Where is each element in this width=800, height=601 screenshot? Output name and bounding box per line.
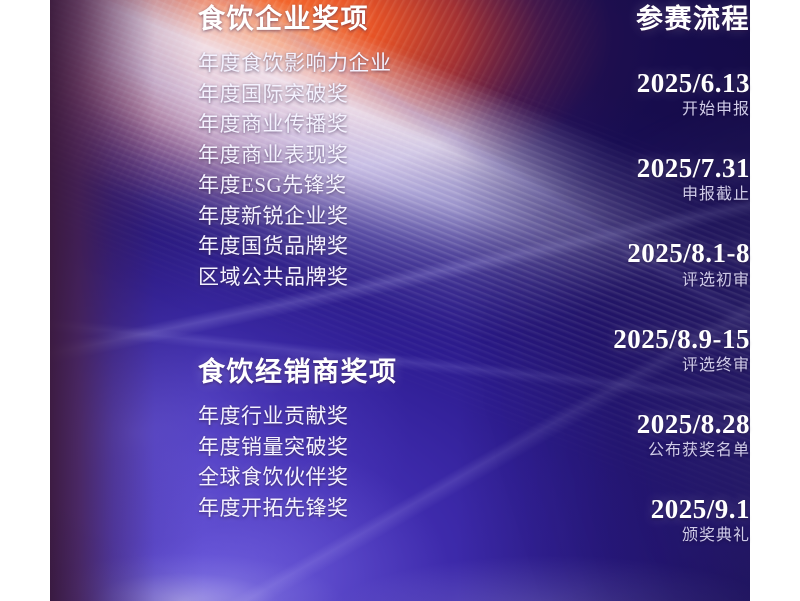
timeline-entry: 2025/7.31 申报截止 xyxy=(430,153,750,207)
timeline-entry: 2025/8.28 公布获奖名单 xyxy=(430,409,750,463)
list-item: 年度ESG先锋奖 xyxy=(198,170,392,201)
timeline-date: 2025/8.9-15 xyxy=(430,324,750,354)
section-title-dealer-awards: 食饮经销商奖项 xyxy=(198,359,398,386)
timeline-label: 公布获奖名单 xyxy=(430,439,750,463)
list-item: 年度国货品牌奖 xyxy=(198,231,392,262)
timeline-entry: 2025/8.1-8 评选初审 xyxy=(430,238,750,292)
section-title-enterprise-awards: 食饮企业奖项 xyxy=(198,6,369,33)
poster-canvas: 食饮企业奖项 年度食饮影响力企业 年度国际突破奖 年度商业传播奖 年度商业表现奖… xyxy=(0,0,800,601)
timeline-date: 2025/7.31 xyxy=(430,153,750,183)
timeline-label: 开始申报 xyxy=(430,98,750,122)
timeline-date: 2025/8.1-8 xyxy=(430,238,750,268)
timeline-list: 2025/6.13 开始申报 2025/7.31 申报截止 2025/8.1-8… xyxy=(430,68,750,579)
section-title-competition-process: 参赛流程 xyxy=(636,6,750,33)
list-item: 年度商业表现奖 xyxy=(198,140,392,171)
list-item: 年度商业传播奖 xyxy=(198,109,392,140)
timeline-date: 2025/9.1 xyxy=(430,494,750,524)
timeline-label: 申报截止 xyxy=(430,183,750,207)
timeline-entry: 2025/8.9-15 评选终审 xyxy=(430,324,750,378)
list-item: 年度新锐企业奖 xyxy=(198,201,392,232)
timeline-label: 评选终审 xyxy=(430,354,750,378)
list-item: 年度销量突破奖 xyxy=(198,432,349,463)
dealer-awards-list: 年度行业贡献奖 年度销量突破奖 全球食饮伙伴奖 年度开拓先锋奖 xyxy=(198,401,349,523)
timeline-label: 评选初审 xyxy=(430,269,750,293)
list-item: 年度行业贡献奖 xyxy=(198,401,349,432)
list-item: 全球食饮伙伴奖 xyxy=(198,462,349,493)
timeline-label: 颁奖典礼 xyxy=(430,524,750,548)
timeline-date: 2025/6.13 xyxy=(430,68,750,98)
enterprise-awards-list: 年度食饮影响力企业 年度国际突破奖 年度商业传播奖 年度商业表现奖 年度ESG先… xyxy=(198,48,392,292)
list-item: 年度食饮影响力企业 xyxy=(198,48,392,79)
list-item: 区域公共品牌奖 xyxy=(198,262,392,293)
timeline-entry: 2025/9.1 颁奖典礼 xyxy=(430,494,750,548)
timeline-date: 2025/8.28 xyxy=(430,409,750,439)
timeline-entry: 2025/6.13 开始申报 xyxy=(430,68,750,122)
list-item: 年度国际突破奖 xyxy=(198,79,392,110)
list-item: 年度开拓先锋奖 xyxy=(198,493,349,524)
